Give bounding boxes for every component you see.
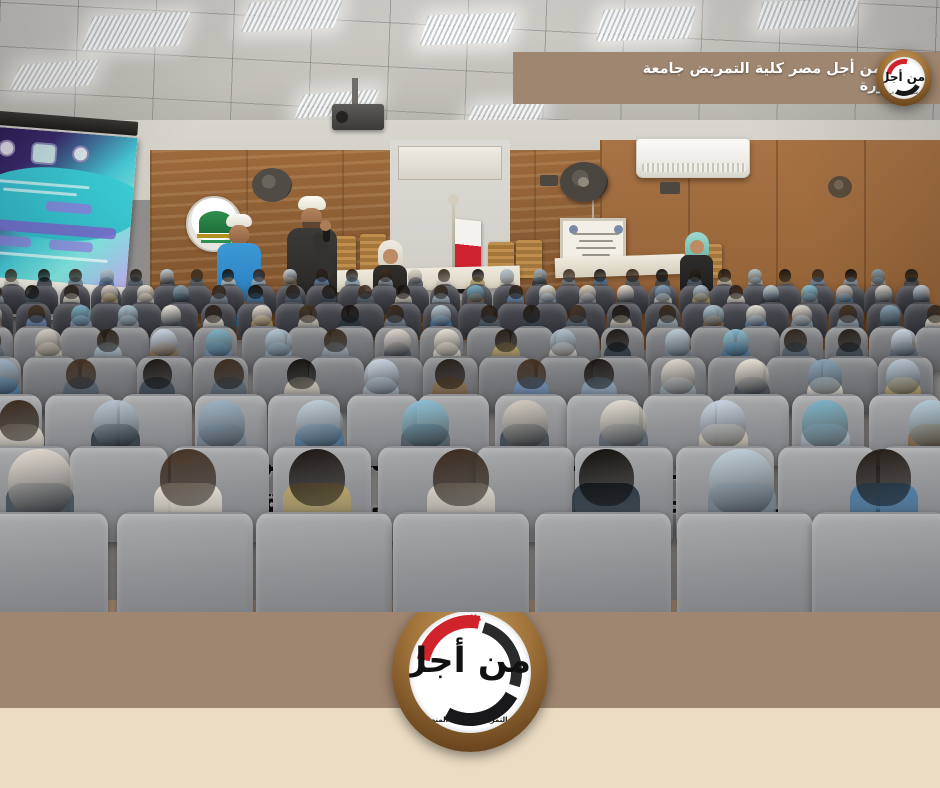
- audience-head-hijab: [709, 449, 774, 515]
- audience-head: [856, 449, 912, 506]
- header-logo[interactable]: طلاب من أجل مصر كلية التمريض - جامعة الم…: [876, 50, 932, 106]
- auditorium-seat: [117, 512, 253, 612]
- wall-fan-icon: [828, 176, 852, 198]
- audience-head: [0, 400, 39, 441]
- audience: [0, 268, 940, 612]
- audience-head-hijab: [836, 285, 853, 302]
- wall-switch-box: [660, 182, 680, 194]
- audience-head: [97, 329, 120, 352]
- audience-head-hijab: [871, 269, 885, 284]
- audience-head: [248, 285, 262, 300]
- audience-head-hijab: [735, 359, 769, 394]
- audience-head-hijab: [550, 329, 576, 356]
- projector-icon: [332, 104, 384, 130]
- audience-head: [779, 269, 791, 282]
- logo-field: طلاب من أجل مصر كلية التمريض - جامعة الم…: [409, 611, 531, 733]
- audience-head-hijab: [296, 400, 343, 448]
- logo-bottom-label: كلية التمريض - جامعة المنصورة: [883, 91, 925, 95]
- audience-head-hijab: [500, 269, 514, 284]
- audience-head-hijab: [763, 285, 780, 302]
- audience-head-hijab: [35, 329, 61, 356]
- slide-callout: [49, 239, 94, 252]
- audience-head-hijab: [802, 400, 849, 448]
- audience-head-hijab: [600, 400, 647, 448]
- audience-head: [130, 269, 142, 282]
- audience-head: [729, 285, 743, 300]
- slide-icon: [30, 142, 58, 166]
- audience-head-hijab: [746, 305, 766, 326]
- audience-head-hijab: [408, 269, 422, 284]
- audience-head: [5, 269, 17, 282]
- auditorium-seat: [677, 512, 813, 612]
- audience-head: [481, 305, 499, 323]
- audience-head: [579, 449, 635, 506]
- audience-head: [656, 269, 668, 282]
- audience-head-hijab: [700, 400, 747, 448]
- audience-head: [143, 359, 173, 389]
- audience-head: [568, 305, 586, 323]
- audience-head: [839, 305, 857, 323]
- audience-head-hijab: [539, 285, 556, 302]
- audience-head-hijab: [880, 305, 900, 326]
- audience-head-hijab: [101, 285, 118, 302]
- audience-head-hijab: [693, 285, 710, 302]
- audience-head: [214, 359, 244, 389]
- poster-root: ندوة الازهر الشريف تحت عنوان بين المباح …: [0, 0, 940, 788]
- audience-head-hijab: [502, 400, 549, 448]
- audience-head: [64, 285, 78, 300]
- logo-top-label: طلاب: [409, 614, 531, 624]
- audience-head-hijab: [886, 359, 920, 394]
- audience-head: [433, 449, 489, 506]
- audience-head-hijab: [160, 269, 174, 284]
- flag-finial: [448, 194, 459, 205]
- audience-head-hijab: [151, 329, 177, 356]
- auditorium-seat: [0, 512, 108, 612]
- auditorium-seat: [393, 512, 529, 612]
- presentation-slide: [0, 126, 138, 287]
- audience-head: [346, 269, 358, 282]
- audience-head: [626, 269, 638, 282]
- wall-fan-icon: [252, 168, 292, 202]
- audience-head-hijab: [617, 285, 634, 302]
- audience-head-hijab: [665, 329, 691, 356]
- slide-icon: [0, 139, 16, 157]
- logo-calligraphy: من أجل مصر: [409, 641, 531, 681]
- footer-logo[interactable]: طلاب من أجل مصر كلية التمريض - جامعة الم…: [392, 592, 548, 752]
- window: [398, 146, 502, 180]
- audience-head: [438, 269, 450, 282]
- audience-head-hijab: [723, 329, 749, 356]
- audience-head-hijab: [661, 359, 695, 394]
- audience-head: [160, 449, 216, 506]
- audience-head: [927, 305, 940, 323]
- audience-head-hijab: [703, 305, 723, 326]
- audience-head-hijab: [655, 285, 672, 302]
- logo-calligraphy: من أجل مصر: [883, 70, 925, 84]
- audience-head: [612, 305, 630, 323]
- audience-head: [379, 269, 391, 282]
- audience-head: [784, 329, 807, 352]
- audience-head-hijab: [579, 285, 596, 302]
- audience-head-hijab: [252, 305, 272, 326]
- audience-head: [606, 329, 629, 352]
- auditorium-seat: [256, 512, 392, 612]
- audience-head: [287, 359, 317, 389]
- ceiling-light-panel: [81, 12, 191, 51]
- audience-head: [689, 269, 701, 282]
- audience-head: [434, 285, 448, 300]
- audience-head: [222, 269, 234, 282]
- audience-head: [594, 269, 606, 282]
- wall-switch-box: [540, 175, 558, 186]
- certificate-text-line: [576, 247, 616, 249]
- audience-head: [584, 359, 614, 389]
- audience-head-hijab: [808, 359, 842, 394]
- audience-head: [253, 269, 265, 282]
- face: [383, 249, 398, 264]
- audience-head-hijab: [533, 269, 547, 284]
- audience-head-hijab: [875, 285, 892, 302]
- audience-head: [845, 269, 857, 282]
- audience-head: [69, 269, 81, 282]
- audience-head-hijab: [118, 305, 138, 326]
- audience-head: [718, 269, 730, 282]
- audience-head: [299, 305, 317, 323]
- wall-fan-icon: [560, 162, 608, 202]
- certificate-text-line: [579, 240, 613, 242]
- audience-head-hijab: [93, 400, 140, 448]
- audience-head-hijab: [364, 359, 398, 394]
- face: [229, 225, 249, 245]
- audience-head: [435, 359, 465, 389]
- audience-head-hijab: [913, 285, 930, 302]
- audience-head-hijab: [283, 269, 297, 284]
- slide-text-line: [0, 251, 108, 263]
- audience-head-hijab: [431, 305, 451, 326]
- audience-head: [324, 329, 347, 352]
- audience-head-hijab: [100, 269, 114, 284]
- audience-head: [28, 305, 46, 323]
- ceiling-light-panel: [757, 0, 860, 30]
- audience-head: [341, 305, 359, 323]
- ceiling-light-panel: [241, 0, 344, 32]
- hand: [320, 220, 331, 231]
- audience-head-hijab: [801, 285, 818, 302]
- audience-head: [905, 269, 917, 282]
- audience-head-hijab: [161, 305, 181, 326]
- air-conditioner: [636, 138, 750, 178]
- audience-head: [191, 269, 203, 282]
- audience-head: [517, 359, 547, 389]
- logo-bottom-label: كلية التمريض - جامعة المنصورة: [409, 716, 531, 724]
- audience-head: [812, 269, 824, 282]
- audience-head: [563, 269, 575, 282]
- audience-head: [523, 305, 541, 323]
- auditorium-seat: [812, 512, 940, 612]
- audience-head-hijab: [137, 285, 154, 302]
- audience-head-hijab: [467, 285, 484, 302]
- audience-head-hijab: [173, 285, 190, 302]
- audience-head: [25, 285, 39, 300]
- ceiling-light-panel: [419, 12, 517, 45]
- audience-head: [396, 285, 410, 300]
- audience-head-hijab: [71, 305, 91, 326]
- audience-head-hijab: [265, 329, 291, 356]
- audience-head-hijab: [198, 400, 245, 448]
- certificate-text-line: [573, 233, 619, 235]
- auditorium-seat: [535, 512, 671, 612]
- audience-head-hijab: [402, 400, 449, 448]
- slide-icon: [71, 145, 89, 163]
- audience-head: [472, 269, 484, 282]
- audience-head: [495, 329, 518, 352]
- audience-head: [659, 305, 677, 323]
- audience-head: [358, 285, 372, 300]
- audience-head: [509, 285, 523, 300]
- header-banner: طلاب من أجل مصر كلية التمريض جامعة المنص…: [513, 52, 940, 104]
- audience-head: [286, 285, 300, 300]
- audience-head: [205, 305, 223, 323]
- audience-head: [66, 359, 96, 389]
- audience-head: [289, 449, 345, 506]
- audience-head: [316, 269, 328, 282]
- logo-top-label: طلاب: [883, 58, 925, 62]
- audience-head: [838, 329, 861, 352]
- logo-field: طلاب من أجل مصر كلية التمريض - جامعة الم…: [883, 57, 925, 99]
- ceiling-light-panel: [596, 6, 697, 41]
- audience-head-hijab: [384, 329, 410, 356]
- audience-head-hijab: [891, 329, 917, 356]
- audience-head: [38, 269, 50, 282]
- audience-head-hijab: [8, 449, 73, 515]
- face: [690, 240, 704, 254]
- audience-head-hijab: [206, 329, 232, 356]
- audience-head-hijab: [434, 329, 460, 356]
- slide-callout: [0, 234, 31, 247]
- audience-head: [212, 285, 226, 300]
- audience-head-hijab: [748, 269, 762, 284]
- audience-head: [322, 285, 336, 300]
- audience-head-hijab: [792, 305, 812, 326]
- audience-head: [386, 305, 404, 323]
